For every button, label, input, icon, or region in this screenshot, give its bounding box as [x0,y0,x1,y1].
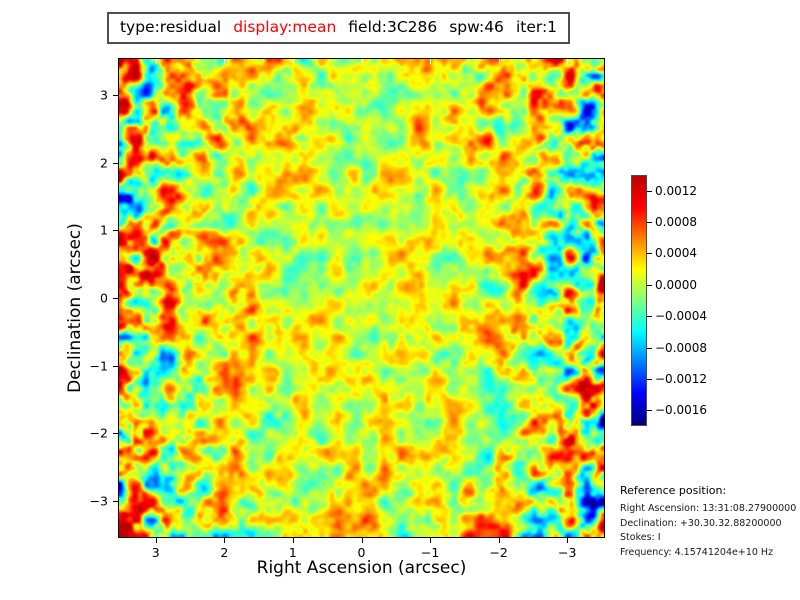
x-axis-tick-label: 2 [220,545,228,560]
title-item-type: type:residual [120,20,221,36]
y-axis-tick [113,433,118,434]
x-axis-tick-label: −1 [421,545,439,560]
x-axis-tick [156,538,157,543]
y-axis-tick-label: −2 [90,426,108,441]
title-item-display: display:mean [233,20,336,36]
x-axis-tick-inner [224,59,225,64]
colorbar-tick [647,222,652,223]
colorbar-tick [647,348,652,349]
x-axis-tick-label: −2 [489,545,507,560]
y-axis-tick-label: 3 [100,88,108,103]
title-item-field: field:3C286 [348,20,437,36]
x-axis-tick-inner [362,59,363,64]
x-axis-tick-inner [293,59,294,64]
residual-image-panel[interactable] [118,58,605,538]
colorbar-tick-label: 0.0012 [655,184,697,198]
colorbar-tick [647,379,652,380]
x-axis-label: Right Ascension (arcsec) [118,558,605,578]
colorbar-gradient [632,176,646,425]
x-axis-tick [362,538,363,543]
x-axis-tick-inner [499,59,500,64]
x-axis-tick [224,538,225,543]
y-axis-tick [113,230,118,231]
x-axis-tick [293,538,294,543]
colorbar-tick-label: −0.0012 [655,372,707,386]
y-axis-tick-label: −3 [90,493,108,508]
reference-stokes: Stokes: I [620,531,800,546]
x-axis-tick-inner [567,59,568,64]
title-item-spw: spw:46 [449,20,504,36]
x-axis-tick-label: 1 [289,545,297,560]
colorbar-tick-label: 0.0008 [655,215,697,229]
colorbar-tick-label: −0.0016 [655,403,707,417]
x-axis-tick [499,538,500,543]
y-axis-tick-label: −1 [90,358,108,373]
colorbar-tick [647,191,652,192]
y-axis-tick [113,95,118,96]
y-axis-tick-label: 0 [100,291,108,306]
plot-title-bar: type:residual display:mean field:3C286 s… [107,12,570,44]
x-axis-tick-label: 3 [152,545,160,560]
reference-frequency: Frequency: 4.15741204e+10 Hz [620,546,800,561]
colorbar-tick [647,285,652,286]
x-axis-tick [567,538,568,543]
colorbar-tick [647,316,652,317]
x-axis-tick [430,538,431,543]
residual-heatmap-canvas[interactable] [119,59,604,537]
reference-position-heading: Reference position: [620,482,800,499]
y-axis-tick-label: 2 [100,155,108,170]
x-axis-tick-label: 0 [358,545,366,560]
title-item-iter: iter:1 [516,20,557,36]
y-axis-tick [113,366,118,367]
colorbar-tick [647,410,652,411]
y-axis-tick [113,163,118,164]
y-axis-tick [113,501,118,502]
y-axis-tick-label: 1 [100,223,108,238]
colorbar-tick-label: −0.0004 [655,309,707,323]
reference-right-ascension: Right Ascension: 13:31:08.27900000 [620,502,800,517]
y-axis-label: Declination (arcsec) [65,68,85,548]
colorbar-tick [647,253,652,254]
colorbar-tick-label: 0.0000 [655,278,697,292]
reference-declination: Declination: +30.30.32.88200000 [620,517,800,532]
x-axis-tick-inner [430,59,431,64]
x-axis-tick-inner [156,59,157,64]
colorbar-tick-label: 0.0004 [655,246,697,260]
y-axis-tick [113,298,118,299]
colorbar-tick-label: −0.0008 [655,341,707,355]
x-axis-tick-label: −3 [558,545,576,560]
reference-position-block: Reference position: Right Ascension: 13:… [620,482,800,561]
colorbar[interactable] [631,175,647,426]
